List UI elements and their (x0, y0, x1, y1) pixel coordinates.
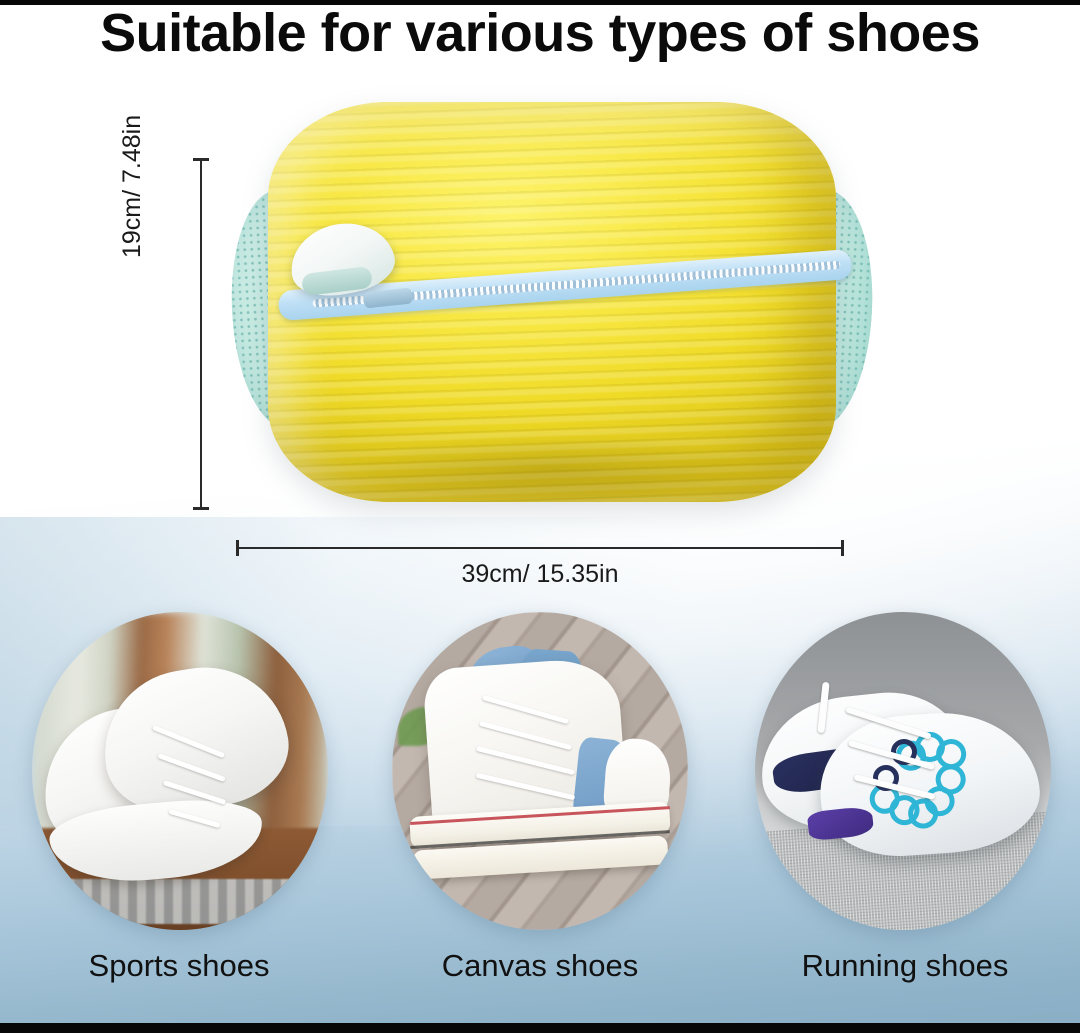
height-dimension-rule (200, 158, 202, 510)
page-title: Suitable for various types of shoes (0, 2, 1080, 64)
canvas-shoes-scene (392, 612, 688, 930)
height-dimension-label: 19cm/ 7.48in (118, 115, 147, 258)
height-dimension-line (193, 158, 209, 510)
sports-shoes-scene (32, 612, 328, 930)
width-dimension-line: 39cm/ 15.35in (236, 540, 844, 556)
width-dimension-cap-right (841, 540, 844, 556)
caption-sports-shoes: Sports shoes (14, 948, 344, 984)
metal-rail (32, 879, 328, 924)
gallery-photo-canvas-shoes (392, 612, 688, 930)
product-infographic: Suitable for various types of shoes 19cm… (0, 0, 1080, 1033)
bottom-letterbox-band (0, 1023, 1080, 1033)
laundry-bag-image (232, 102, 872, 502)
width-dimension-rule (236, 547, 844, 549)
width-dimension-label: 39cm/ 15.35in (236, 560, 844, 589)
product-dimension-section: 19cm/ 7.48in 39cm/ 15.35in (0, 72, 1080, 582)
running-shoes-scene (755, 612, 1051, 930)
top-letterbox-band (0, 0, 1080, 5)
shoe-gallery (0, 612, 1080, 942)
height-dimension-cap-bottom (193, 507, 209, 510)
gallery-photo-running-shoes (755, 612, 1051, 930)
bag-drop-shadow (359, 434, 745, 504)
gallery-captions: Sports shoes Canvas shoes Running shoes (0, 948, 1080, 1008)
caption-running-shoes: Running shoes (740, 948, 1070, 984)
gallery-photo-sports-shoes (32, 612, 328, 930)
caption-canvas-shoes: Canvas shoes (375, 948, 705, 984)
